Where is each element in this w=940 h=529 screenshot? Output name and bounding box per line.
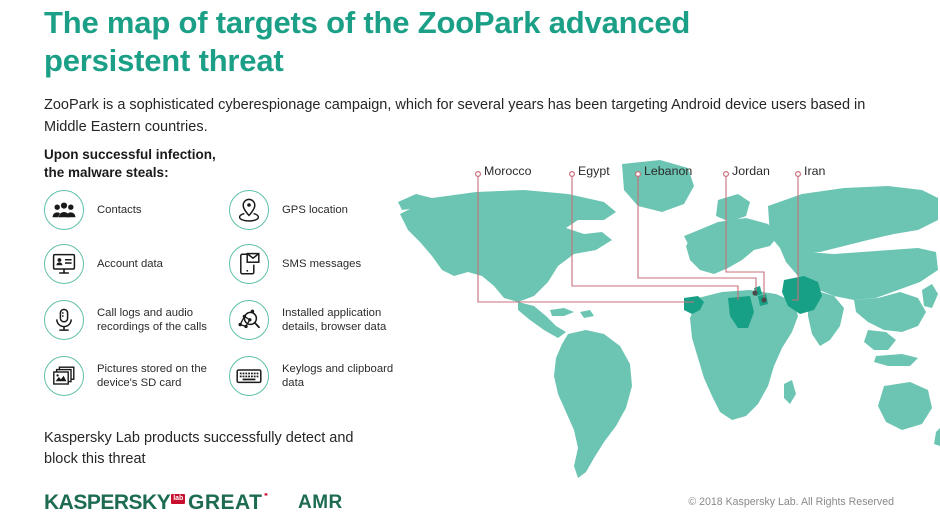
callout-marker-morocco <box>476 172 481 177</box>
feature-label: Keylogs and clipboard data <box>282 362 410 391</box>
world-map: Morocco Egypt Lebanon Jordan Iran <box>398 150 940 480</box>
feature-installed-applications: Installed application details, browser d… <box>229 300 410 340</box>
kaspersky-lab-logo: KASPERSKYlab <box>44 491 185 515</box>
pictures-sd-card-icon <box>44 356 84 396</box>
pin-lebanon <box>752 290 757 295</box>
map-label-egypt: Egypt <box>578 164 610 178</box>
callout-marker-lebanon <box>636 172 641 177</box>
great-logo: GREAT˙ <box>188 491 270 515</box>
feature-gps-location: GPS location <box>229 190 348 230</box>
map-landmasses <box>398 160 940 478</box>
page-title: The map of targets of the ZooPark advanc… <box>44 4 834 80</box>
steals-heading-line2: the malware steals: <box>44 164 304 182</box>
feature-call-logs: Call logs and audio recordings of the ca… <box>44 300 225 340</box>
call-logs-microphone-icon <box>44 300 84 340</box>
gps-location-icon <box>229 190 269 230</box>
map-label-lebanon: Lebanon <box>644 164 692 178</box>
copyright-text: © 2018 Kaspersky Lab. All Rights Reserve… <box>688 496 894 508</box>
feature-label: Account data <box>97 257 163 272</box>
kaspersky-lab-badge: lab <box>171 494 185 504</box>
footer: KASPERSKYlab GREAT˙ AMR © 2018 Kaspersky… <box>0 490 940 529</box>
feature-label: Pictures stored on the device's SD card <box>97 362 225 391</box>
map-label-morocco: Morocco <box>484 164 532 178</box>
feature-label: Contacts <box>97 203 142 218</box>
account-data-icon <box>44 244 84 284</box>
feature-keylogs: Keylogs and clipboard data <box>229 356 410 396</box>
contacts-icon <box>44 190 84 230</box>
steals-heading: Upon successful infection, the malware s… <box>44 146 304 182</box>
feature-contacts: Contacts <box>44 190 142 230</box>
great-dot-icon: ˙ <box>262 491 270 514</box>
great-wordmark: GREAT <box>188 491 262 514</box>
callout-marker-jordan <box>724 172 729 177</box>
map-label-jordan: Jordan <box>732 164 770 178</box>
feature-label: SMS messages <box>282 257 361 272</box>
page-subtitle: ZooPark is a sophisticated cyberespionag… <box>44 94 874 138</box>
feature-label: Call logs and audio recordings of the ca… <box>97 306 225 335</box>
world-map-svg <box>398 150 940 480</box>
kaspersky-wordmark: KASPERSKY <box>44 491 170 514</box>
feature-label: Installed application details, browser d… <box>282 306 410 335</box>
callout-marker-iran <box>796 172 801 177</box>
amr-logo: AMR <box>298 492 343 514</box>
callout-marker-egypt <box>570 172 575 177</box>
installed-applications-icon <box>229 300 269 340</box>
feature-sms-messages: SMS messages <box>229 244 361 284</box>
pin-jordan <box>761 297 766 302</box>
map-label-iran: Iran <box>804 164 825 178</box>
feature-account-data: Account data <box>44 244 163 284</box>
detection-note: Kaspersky Lab products successfully dete… <box>44 428 364 470</box>
steals-heading-line1: Upon successful infection, <box>44 146 304 164</box>
sms-messages-icon <box>229 244 269 284</box>
feature-label: GPS location <box>282 203 348 218</box>
feature-pictures: Pictures stored on the device's SD card <box>44 356 225 396</box>
infographic-page: The map of targets of the ZooPark advanc… <box>0 0 940 529</box>
keyboard-icon <box>229 356 269 396</box>
